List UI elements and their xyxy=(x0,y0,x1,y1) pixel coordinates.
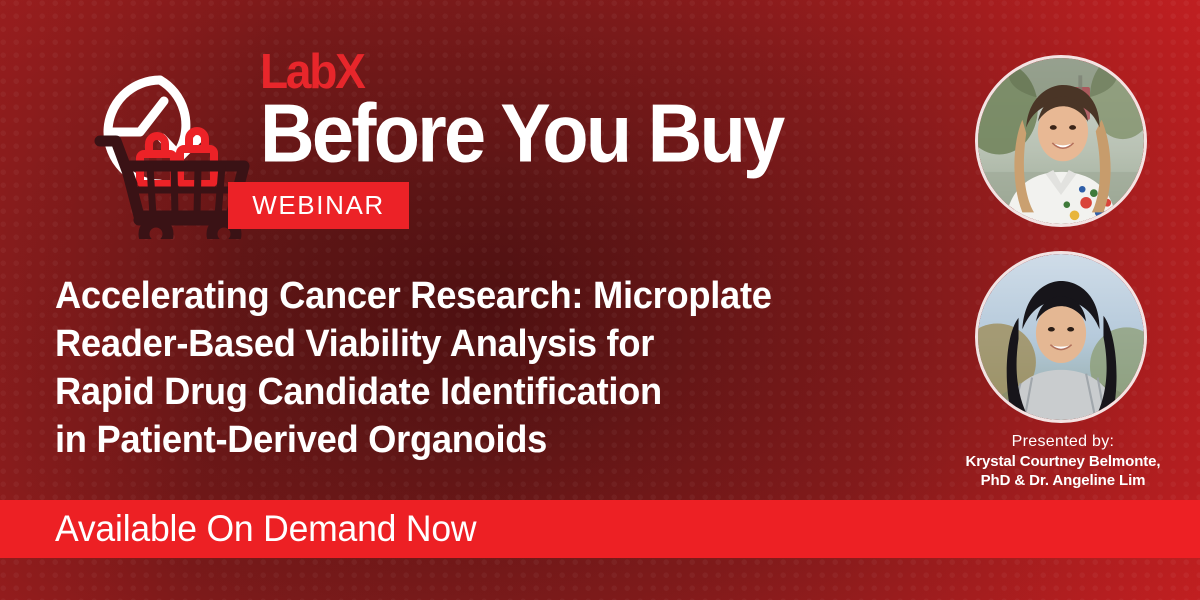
availability-text: Available On Demand Now xyxy=(55,508,476,550)
before-you-buy-wordmark: Before You Buy xyxy=(260,97,832,170)
title-line: in Patient-Derived Organoids xyxy=(55,416,915,464)
webinar-badge-label: WEBINAR xyxy=(252,190,385,221)
presenter-photo-one xyxy=(975,55,1147,227)
presenter-name-line: PhD & Dr. Angeline Lim xyxy=(930,471,1196,490)
title-line: Rapid Drug Candidate Identification xyxy=(55,368,915,416)
webinar-promo-banner: LabX Before You Buy WEBINAR Accelerating… xyxy=(0,0,1200,600)
availability-band[interactable]: Available On Demand Now xyxy=(0,500,1200,558)
webinar-badge: WEBINAR xyxy=(228,182,409,229)
presented-by-block: Presented by: Krystal Courtney Belmonte,… xyxy=(930,432,1196,490)
webinar-title: Accelerating Cancer Research: Microplate… xyxy=(55,272,955,464)
presenter-name-line: Krystal Courtney Belmonte, xyxy=(930,452,1196,471)
title-line: Reader-Based Viability Analysis for xyxy=(55,320,915,368)
brandmark-text: LabX Before You Buy xyxy=(260,50,850,166)
presented-by-label: Presented by: xyxy=(930,432,1196,452)
title-line: Accelerating Cancer Research: Microplate xyxy=(55,272,915,320)
presenter-photo-two xyxy=(975,251,1147,423)
brand-logo-block: LabX Before You Buy xyxy=(52,44,842,244)
